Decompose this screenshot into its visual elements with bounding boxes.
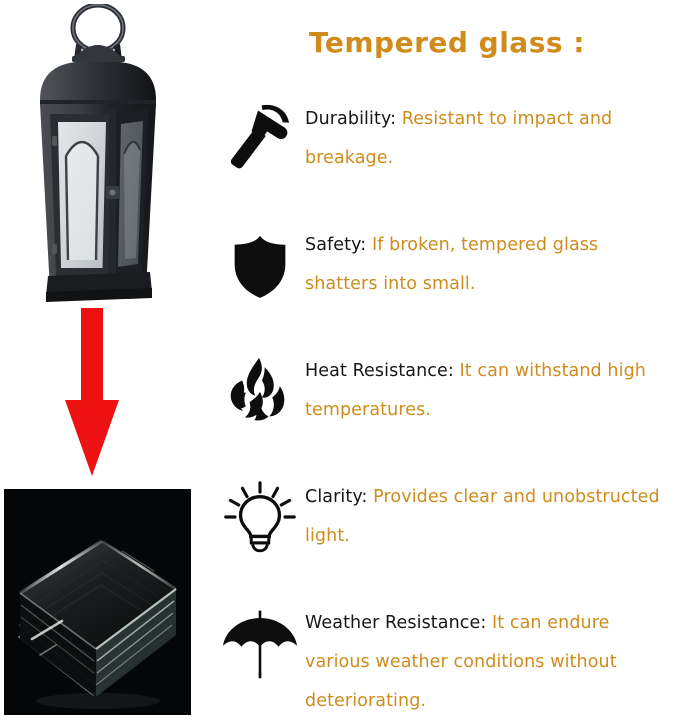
downward-arrow-icon bbox=[58, 308, 128, 478]
feature-label: Weather Resistance: bbox=[305, 613, 486, 633]
feature-label: Heat Resistance: bbox=[305, 361, 454, 381]
feature-row-heat-resistance: Heat Resistance: It can withstand high t… bbox=[215, 352, 679, 430]
flame-icon bbox=[215, 352, 305, 424]
feature-text-heat-resistance: Heat Resistance: It can withstand high t… bbox=[305, 352, 679, 430]
lightbulb-icon bbox=[215, 478, 305, 554]
shield-icon bbox=[215, 226, 305, 300]
feature-text-clarity: Clarity: Provides clear and unobstructed… bbox=[305, 478, 679, 556]
feature-text-durability: Durability: Resistant to impact and brea… bbox=[305, 100, 679, 178]
features-column: Tempered glass : Durability: Resistant t… bbox=[215, 0, 679, 720]
lantern-product-image bbox=[14, 4, 182, 304]
product-illustration-column bbox=[0, 0, 215, 720]
feature-row-clarity: Clarity: Provides clear and unobstructed… bbox=[215, 478, 679, 556]
feature-row-safety: Safety: If broken, tempered glass shatte… bbox=[215, 226, 679, 304]
hammer-icon bbox=[215, 100, 305, 172]
umbrella-icon bbox=[215, 604, 305, 682]
feature-label: Clarity: bbox=[305, 487, 368, 507]
feature-text-weather-resistance: Weather Resistance: It can endure variou… bbox=[305, 604, 679, 720]
page-title: Tempered glass : bbox=[215, 26, 679, 59]
feature-label: Safety: bbox=[305, 235, 366, 255]
tempered-glass-panels-image bbox=[4, 489, 191, 715]
feature-text-safety: Safety: If broken, tempered glass shatte… bbox=[305, 226, 679, 304]
feature-row-durability: Durability: Resistant to impact and brea… bbox=[215, 100, 679, 178]
infographic-page: Tempered glass : Durability: Resistant t… bbox=[0, 0, 679, 720]
feature-row-weather-resistance: Weather Resistance: It can endure variou… bbox=[215, 604, 679, 720]
feature-label: Durability: bbox=[305, 109, 396, 129]
